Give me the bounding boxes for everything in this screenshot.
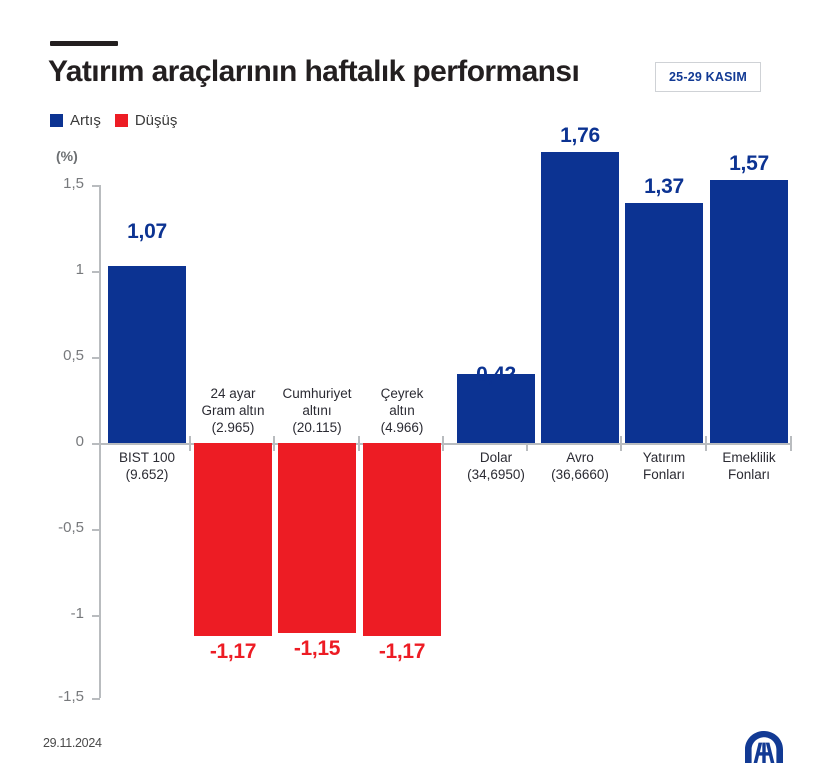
y-axis-tick	[92, 185, 100, 187]
y-axis-tick	[92, 529, 100, 531]
publication-date: 29.11.2024	[43, 736, 102, 750]
y-axis-tick-label: 1,5	[42, 175, 84, 192]
bar-value-label: 1,57	[710, 152, 788, 176]
bar-bist-100[interactable]	[108, 266, 186, 443]
bar-value-label: 1,07	[108, 220, 186, 244]
bar-avro[interactable]	[541, 152, 619, 443]
bar-value-label: 1,37	[625, 175, 703, 199]
bar--eyrek-alt-n[interactable]	[363, 443, 441, 636]
bar-24-ayar-gram-alt-n[interactable]	[194, 443, 272, 636]
category-label: Çeyrekaltın(4.966)	[352, 385, 452, 436]
bar-value-label: 0,42	[457, 363, 535, 387]
x-axis-tick	[358, 436, 360, 451]
bar-cumhuriyet-alt-n-[interactable]	[278, 443, 356, 633]
y-axis-tick	[92, 357, 100, 359]
y-axis-tick-label: -0,5	[42, 519, 84, 536]
y-axis-tick-label: 0	[42, 433, 84, 450]
bar-chart-plot: 1,510,50-0,5-1-1,51,07BIST 100(9.652)-1,…	[0, 0, 820, 779]
y-axis-tick-label: 0,5	[42, 347, 84, 364]
bar-emeklilik-fonlar-[interactable]	[710, 180, 788, 443]
anadolu-agency-logo	[742, 730, 786, 766]
bar-value-label: -1,17	[363, 640, 441, 664]
bar-value-label: -1,17	[194, 640, 272, 664]
y-axis-tick-label: -1,5	[42, 688, 84, 705]
bar-value-label: -1,15	[278, 637, 356, 661]
x-axis-tick	[442, 436, 444, 451]
y-axis-tick	[92, 615, 100, 617]
y-axis-tick	[92, 698, 100, 700]
infographic-root: Yatırım araçlarının haftalık performansı…	[0, 0, 820, 779]
bar-yat-r-m-fonlar-[interactable]	[625, 203, 703, 443]
x-axis-tick	[273, 436, 275, 451]
y-axis-tick	[92, 271, 100, 273]
category-label: BIST 100(9.652)	[97, 449, 197, 483]
category-label: EmeklilikFonları	[699, 449, 799, 483]
y-axis-tick-label: 1	[42, 261, 84, 278]
y-axis-tick-label: -1	[42, 605, 84, 622]
bar-value-label: 1,76	[541, 124, 619, 148]
